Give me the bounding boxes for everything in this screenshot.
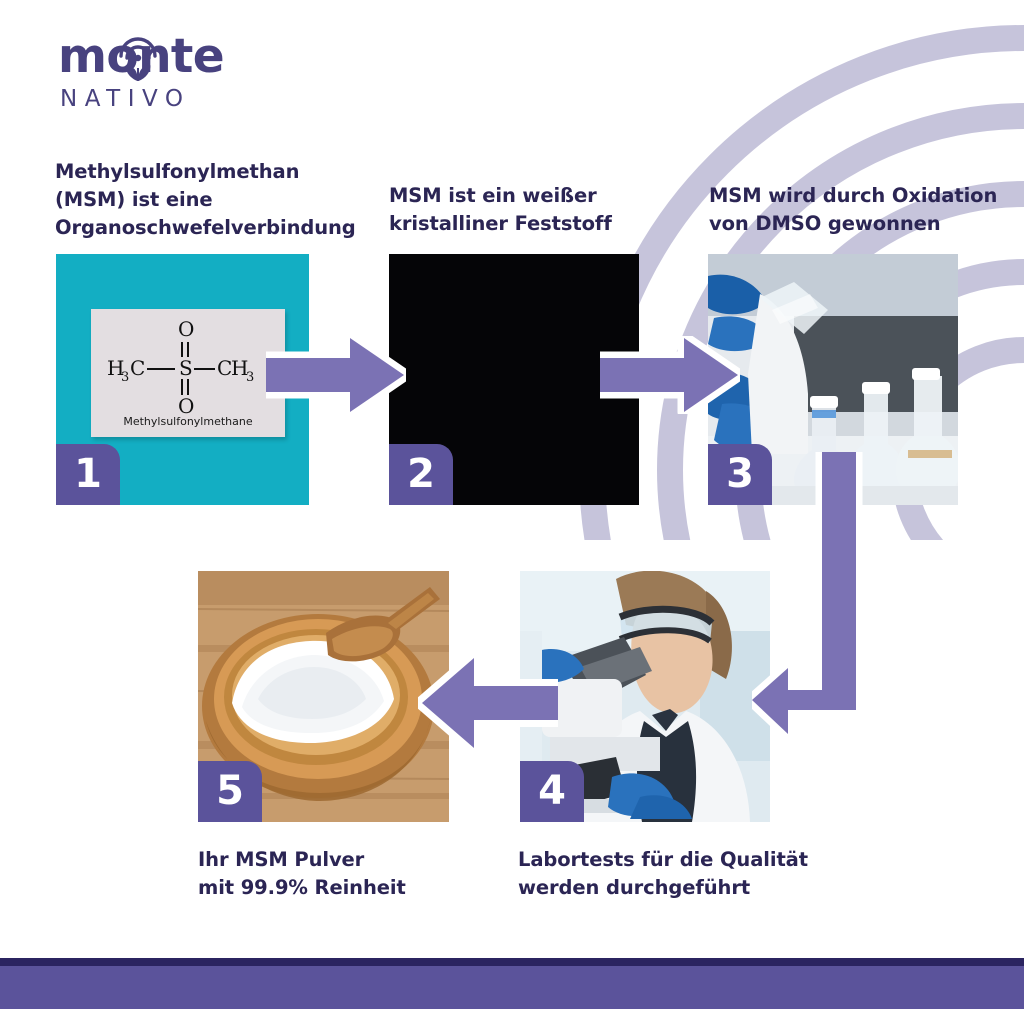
step-2-image: 2 — [389, 254, 639, 505]
step-1-number-badge: 1 — [56, 444, 120, 505]
step-4-image: 4 — [520, 571, 770, 822]
step-5-number-badge: 5 — [198, 761, 262, 822]
brand-tagline: NATIVO — [60, 86, 190, 112]
svg-text:O: O — [178, 317, 194, 341]
svg-text:3: 3 — [121, 370, 129, 385]
step-3-number-badge: 3 — [708, 444, 772, 505]
step-4-number-badge: 4 — [520, 761, 584, 822]
footer-purple-bar — [0, 966, 1024, 1009]
step-3-caption: MSM wird durch Oxidation von DMSO gewonn… — [709, 182, 999, 238]
svg-text:S: S — [179, 356, 193, 380]
step-1-image: H 3 C S C H 3 O O — [56, 254, 309, 505]
leaf-arc-icon — [112, 32, 164, 84]
formula-label: Methylsulfonylmethane — [91, 415, 285, 428]
msm-structural-formula-icon: H 3 C S C H 3 O O — [91, 309, 285, 419]
step-2-caption: MSM ist ein weißer kristalliner Feststof… — [389, 182, 669, 238]
step-5-caption: Ihr MSM Pulver mit 99.9% Reinheit — [198, 846, 478, 902]
infographic-canvas: monte NATIVO Methylsulfonylmethan (MSM) … — [0, 0, 1024, 1024]
footer-dark-stripe — [0, 958, 1024, 966]
step-1-caption: Methylsulfonylmethan (MSM) ist eine Orga… — [55, 158, 345, 242]
step-2-number-badge: 2 — [389, 444, 453, 505]
svg-text:C: C — [130, 356, 145, 380]
step-4-caption: Labortests für die Qualität werden durch… — [518, 846, 818, 902]
step-5-image: 5 — [198, 571, 449, 822]
brand-logo: monte NATIVO — [56, 30, 296, 116]
svg-text:3: 3 — [246, 370, 254, 385]
step-3-image: 3 — [708, 254, 958, 505]
